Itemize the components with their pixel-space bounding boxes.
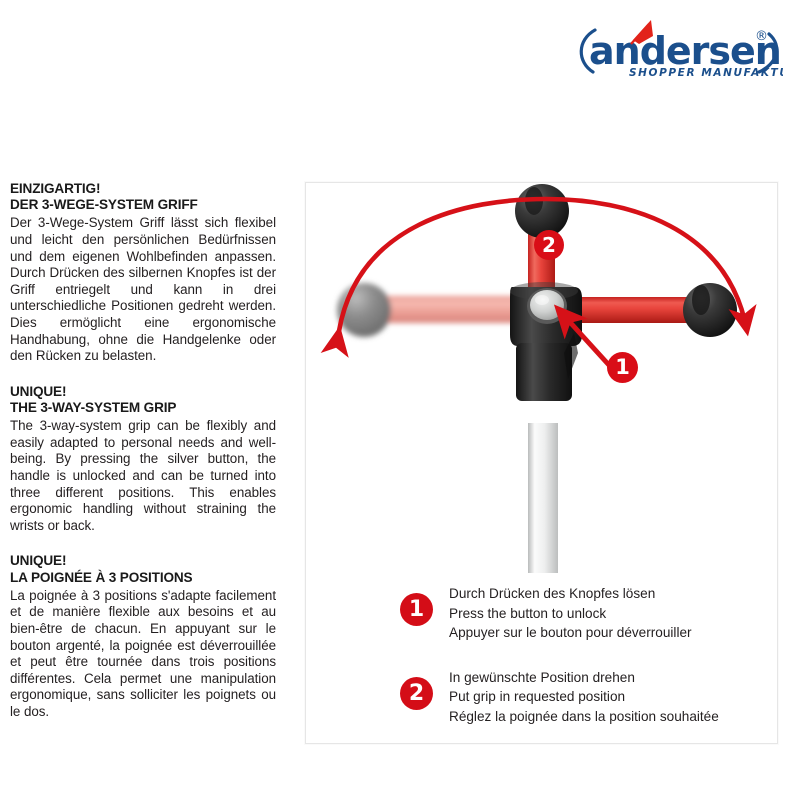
heading-french-line1: UNIQUE! xyxy=(10,553,276,569)
logo-svg: andersen ® SHOPPER MANUFAKTUR xyxy=(573,18,783,80)
text-block-french: UNIQUE! LA POIGNÉE À 3 POSITIONS La poig… xyxy=(10,553,276,720)
description-text-column: EINZIGARTIG! DER 3-WEGE-SYSTEM GRIFF Der… xyxy=(10,181,276,720)
text-block-english: UNIQUE! THE 3-WAY-SYSTEM GRIP The 3-way-… xyxy=(10,384,276,535)
heading-german-line1: EINZIGARTIG! xyxy=(10,181,276,197)
logo-tagline: SHOPPER MANUFAKTUR xyxy=(629,67,783,79)
legend-1-de: Durch Drücken des Knopfes lösen xyxy=(449,584,692,604)
product-illustration-panel: 1 2 1 Durch Drücken des Knopfes lösen Pr… xyxy=(305,182,778,744)
legend-text-2: In gewünschte Position drehen Put grip i… xyxy=(449,666,719,727)
heading-english-line1: UNIQUE! xyxy=(10,384,276,400)
product-photo: 1 2 xyxy=(306,183,779,583)
legend-row-1: 1 Durch Drücken des Knopfes lösen Press … xyxy=(400,582,770,643)
legend-2-de: In gewünschte Position drehen xyxy=(449,668,719,688)
heading-french-line2: LA POIGNÉE À 3 POSITIONS xyxy=(10,570,276,586)
heading-german: EINZIGARTIG! DER 3-WEGE-SYSTEM GRIFF xyxy=(10,181,276,213)
legend-row-2: 2 In gewünschte Position drehen Put grip… xyxy=(400,666,770,727)
legend-2-en: Put grip in requested position xyxy=(449,687,719,707)
silver-release-button[interactable] xyxy=(527,288,567,324)
registered-trademark-icon: ® xyxy=(755,29,768,44)
body-german: Der 3-Wege-System Griff lässt sich flexi… xyxy=(10,215,276,364)
body-english: The 3-way-system grip can be flexibly an… xyxy=(10,418,276,534)
telescopic-pole xyxy=(528,423,558,573)
legend-badge-1: 1 xyxy=(400,593,433,626)
heading-english: UNIQUE! THE 3-WAY-SYSTEM GRIP xyxy=(10,384,276,416)
heading-french: UNIQUE! LA POIGNÉE À 3 POSITIONS xyxy=(10,553,276,585)
heading-german-line2: DER 3-WEGE-SYSTEM GRIFF xyxy=(10,197,276,213)
legend-1-en: Press the button to unlock xyxy=(449,604,692,624)
body-french: La poignée à 3 positions s'adapte facile… xyxy=(10,588,276,721)
legend-2-fr: Réglez la poignée dans la position souha… xyxy=(449,707,719,727)
brand-logo: andersen ® SHOPPER MANUFAKTUR xyxy=(573,18,783,80)
heading-english-line2: THE 3-WAY-SYSTEM GRIP xyxy=(10,400,276,416)
image-marker-2: 2 xyxy=(534,230,564,260)
text-block-german: EINZIGARTIG! DER 3-WEGE-SYSTEM GRIFF Der… xyxy=(10,181,276,365)
instruction-legend: 1 Durch Drücken des Knopfes lösen Press … xyxy=(400,582,770,727)
image-marker-1: 1 xyxy=(607,352,638,383)
legend-text-1: Durch Drücken des Knopfes lösen Press th… xyxy=(449,582,692,643)
legend-badge-2: 2 xyxy=(400,677,433,710)
legend-1-fr: Appuyer sur le bouton pour déverrouiller xyxy=(449,623,692,643)
